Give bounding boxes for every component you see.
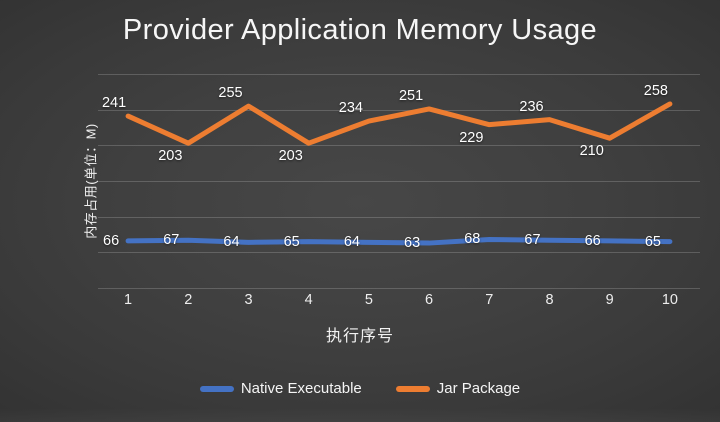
chart-title: Provider Application Memory Usage (0, 14, 720, 47)
legend-swatch (396, 386, 430, 392)
bottom-edge-sheen (0, 408, 720, 422)
legend-label: Native Executable (241, 380, 362, 397)
legend-swatch (200, 386, 234, 392)
series-line (128, 104, 670, 143)
gridline (98, 288, 700, 289)
x-axis-tick-label: 4 (305, 292, 313, 308)
legend-entry[interactable]: Jar Package (396, 380, 520, 397)
series-line (128, 239, 670, 243)
x-axis-tick-label: 10 (662, 292, 678, 308)
memory-usage-chart: Provider Application Memory Usage 050100… (0, 0, 720, 422)
x-axis-title: 执行序号 (0, 322, 720, 346)
x-axis-tick-label: 9 (606, 292, 614, 308)
y-axis-title: 内存占用(单位：M) (81, 123, 100, 239)
series-lines (98, 74, 700, 288)
plot-area: 050100150200250300 内存占用(单位：M) 6667646564… (98, 74, 700, 288)
legend-entry[interactable]: Native Executable (200, 380, 362, 397)
x-axis-tick-label: 6 (425, 292, 433, 308)
legend-label: Jar Package (437, 380, 520, 397)
x-axis-tick-label: 3 (244, 292, 252, 308)
x-axis-tick-label: 8 (545, 292, 553, 308)
x-axis-tick-label: 2 (184, 292, 192, 308)
chart-legend: Native ExecutableJar Package (0, 380, 720, 397)
x-axis-tick-labels: 12345678910 (98, 292, 700, 316)
x-axis-tick-label: 1 (124, 292, 132, 308)
x-axis-tick-label: 5 (365, 292, 373, 308)
x-axis-tick-label: 7 (485, 292, 493, 308)
